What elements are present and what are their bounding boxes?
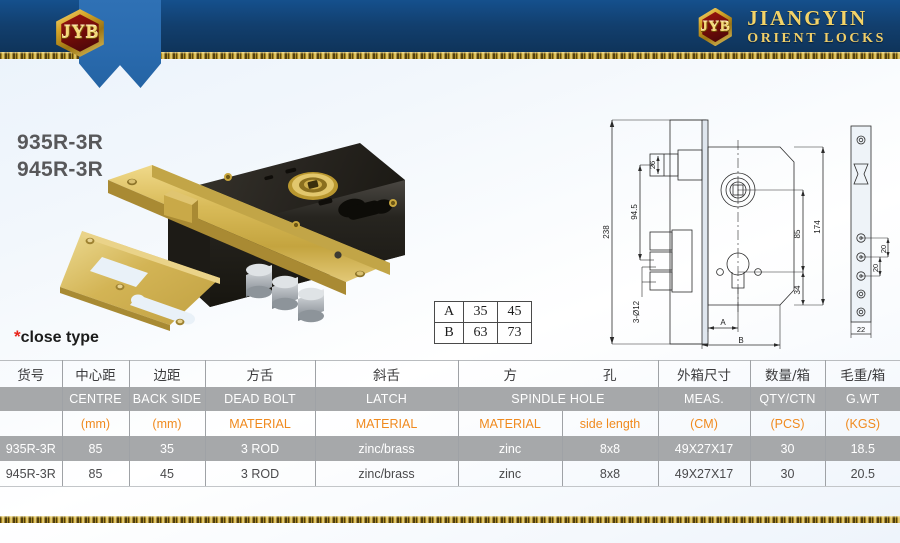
- th-cn-spindle-1: 方: [458, 360, 562, 387]
- th-en-centre: CENTRE: [62, 387, 129, 411]
- page-root: JYB JYB JIANGYIN ORIENT LOCKS 935R-3R 94…: [0, 0, 900, 543]
- th-en-qty: QTY/CTN: [750, 387, 825, 411]
- dim-34: 34: [793, 285, 802, 294]
- th-cn-meas: 外箱尺寸: [658, 360, 750, 387]
- banner-logo: JYB: [47, 7, 113, 59]
- header-row-english: CENTRE BACK SIDE DEAD BOLT LATCH SPINDLE…: [0, 387, 900, 411]
- cell-backside: 35: [129, 436, 205, 461]
- th-unit-qty: (PCS): [750, 411, 825, 436]
- ab-a-v2: 45: [498, 302, 532, 323]
- dim-26: 26: [648, 161, 657, 169]
- ab-row-a: A 35 45: [435, 302, 532, 323]
- brand-hexagon-icon: JYB: [692, 6, 738, 48]
- dim-strike-20-a: 20: [879, 245, 888, 253]
- ab-label-b: B: [435, 323, 464, 344]
- ab-row-b: B 63 73: [435, 323, 532, 344]
- ab-a-v1: 35: [464, 302, 498, 323]
- dim-b: B: [738, 336, 743, 345]
- cell-latch: zinc/brass: [315, 436, 458, 461]
- dim-strike-20-b: 20: [871, 264, 880, 272]
- th-cn-model: 货号: [0, 360, 62, 387]
- brand-lockup: JYB JIANGYIN ORIENT LOCKS: [692, 5, 886, 49]
- th-unit-deadbolt: MATERIAL: [205, 411, 315, 436]
- dim-85: 85: [793, 229, 802, 238]
- th-unit-model: [0, 411, 62, 436]
- th-cn-latch: 斜舌: [315, 360, 458, 387]
- th-cn-centre: 中心距: [62, 360, 129, 387]
- cell-deadbolt: 3 ROD: [205, 461, 315, 486]
- dim-238: 238: [602, 225, 611, 239]
- ab-b-v2: 73: [498, 323, 532, 344]
- th-unit-meas: (CM): [658, 411, 750, 436]
- th-en-deadbolt: DEAD BOLT: [205, 387, 315, 411]
- brand-tagline: ORIENT LOCKS: [747, 32, 886, 46]
- cell-gwt: 18.5: [825, 436, 900, 461]
- cell-deadbolt: 3 ROD: [205, 436, 315, 461]
- th-en-spindle-hole: SPINDLE HOLE: [458, 387, 658, 411]
- cell-qty: 30: [750, 461, 825, 486]
- th-unit-latch: MATERIAL: [315, 411, 458, 436]
- brand-name: JIANGYIN: [747, 8, 886, 29]
- th-en-latch: LATCH: [315, 387, 458, 411]
- th-unit-backside: (mm): [129, 411, 205, 436]
- cell-centre: 85: [62, 461, 129, 486]
- cell-model: 935R-3R: [0, 436, 62, 461]
- jyb-logo-text: JYB: [47, 7, 113, 59]
- cell-spindle-side: 8x8: [562, 436, 658, 461]
- cell-latch: zinc/brass: [315, 461, 458, 486]
- th-unit-spindle-side: side length: [562, 411, 658, 436]
- header-row-units: (mm) (mm) MATERIAL MATERIAL MATERIAL sid…: [0, 411, 900, 436]
- cell-model: 945R-3R: [0, 461, 62, 486]
- th-cn-backside: 边距: [129, 360, 205, 387]
- th-en-backside: BACK SIDE: [129, 387, 205, 411]
- cell-backside: 45: [129, 461, 205, 486]
- footer-gold-band: [0, 516, 900, 523]
- cell-meas: 49X27X17: [658, 436, 750, 461]
- th-cn-qty: 数量/箱: [750, 360, 825, 387]
- table-bottom-rule: [0, 486, 900, 487]
- dim-174: 174: [813, 220, 822, 234]
- dim-3-d12: 3-Ø12: [632, 300, 641, 323]
- th-en-model: [0, 387, 62, 411]
- product-photo: [60, 135, 430, 340]
- dim-strike-22: 22: [857, 325, 865, 334]
- note-text: close type: [21, 329, 99, 346]
- th-unit-gwt: (KGS): [825, 411, 900, 436]
- th-en-meas: MEAS.: [658, 387, 750, 411]
- th-en-gwt: G.WT: [825, 387, 900, 411]
- cell-qty: 30: [750, 436, 825, 461]
- note-asterisk: *: [14, 327, 21, 346]
- close-type-note: *close type: [14, 327, 99, 347]
- jyb-hexagon-icon: JYB: [47, 7, 113, 59]
- table-row: 935R-3R 85 35 3 ROD zinc/brass zinc 8x8 …: [0, 436, 900, 461]
- th-cn-spindle-2: 孔: [562, 360, 658, 387]
- ab-dimension-table: A 35 45 B 63 73: [434, 301, 532, 344]
- cell-spindle-material: zinc: [458, 436, 562, 461]
- cell-spindle-side: 8x8: [562, 461, 658, 486]
- th-cn-gwt: 毛重/箱: [825, 360, 900, 387]
- header-row-chinese: 货号 中心距 边距 方舌 斜舌 方 孔 外箱尺寸 数量/箱 毛重/箱: [0, 360, 900, 387]
- technical-drawing: 238 94.5 26 3-Ø12 174 85 34 A B 20 20 22: [598, 112, 898, 357]
- ab-b-v1: 63: [464, 323, 498, 344]
- dim-a: A: [720, 318, 726, 327]
- dim-94-5: 94.5: [630, 204, 639, 220]
- specification-table: 货号 中心距 边距 方舌 斜舌 方 孔 外箱尺寸 数量/箱 毛重/箱 CENTR…: [0, 360, 900, 486]
- cell-gwt: 20.5: [825, 461, 900, 486]
- table-row: 945R-3R 85 45 3 ROD zinc/brass zinc 8x8 …: [0, 461, 900, 486]
- cell-spindle-material: zinc: [458, 461, 562, 486]
- cell-centre: 85: [62, 436, 129, 461]
- th-unit-spindle-material: MATERIAL: [458, 411, 562, 436]
- brand-logo-text: JYB: [692, 6, 738, 48]
- ab-label-a: A: [435, 302, 464, 323]
- th-unit-centre: (mm): [62, 411, 129, 436]
- cell-meas: 49X27X17: [658, 461, 750, 486]
- th-cn-deadbolt: 方舌: [205, 360, 315, 387]
